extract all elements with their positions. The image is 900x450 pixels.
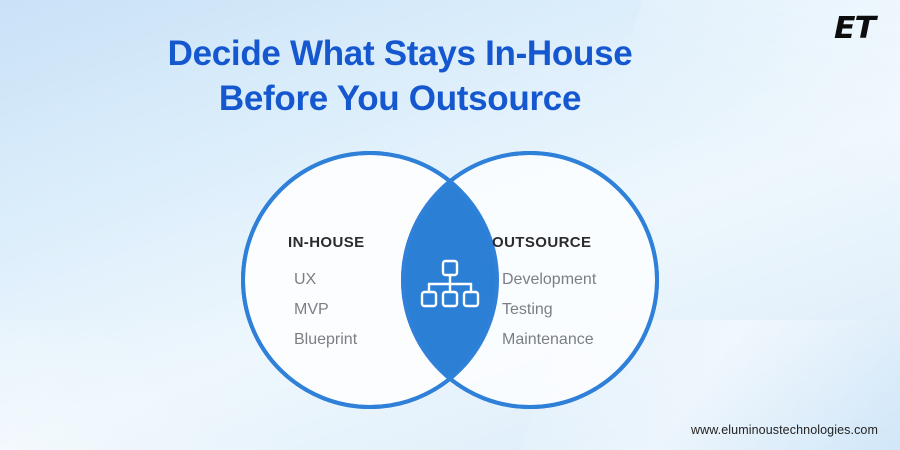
venn-left-heading: IN-HOUSE: [288, 234, 365, 251]
venn-left-item: MVP: [294, 301, 329, 319]
venn-left-item: Blueprint: [294, 331, 357, 349]
page-title-line-2: Before You Outsource: [0, 77, 800, 122]
venn-right-heading: OUTSOURCE: [492, 234, 591, 251]
venn-left-item: UX: [294, 271, 316, 289]
venn-diagram: IN-HOUSE OUTSOURCE UX MVP Blueprint Deve…: [236, 146, 664, 416]
page-title: Decide What Stays In-House Before You Ou…: [0, 32, 900, 122]
venn-right-item: Maintenance: [502, 331, 594, 349]
venn-right-item: Testing: [502, 301, 553, 319]
page-title-line-1: Decide What Stays In-House: [0, 32, 800, 77]
infographic-canvas: ET Decide What Stays In-House Before You…: [0, 0, 900, 450]
website-url[interactable]: www.eluminoustechnologies.com: [691, 423, 878, 437]
venn-right-item: Development: [502, 271, 596, 289]
